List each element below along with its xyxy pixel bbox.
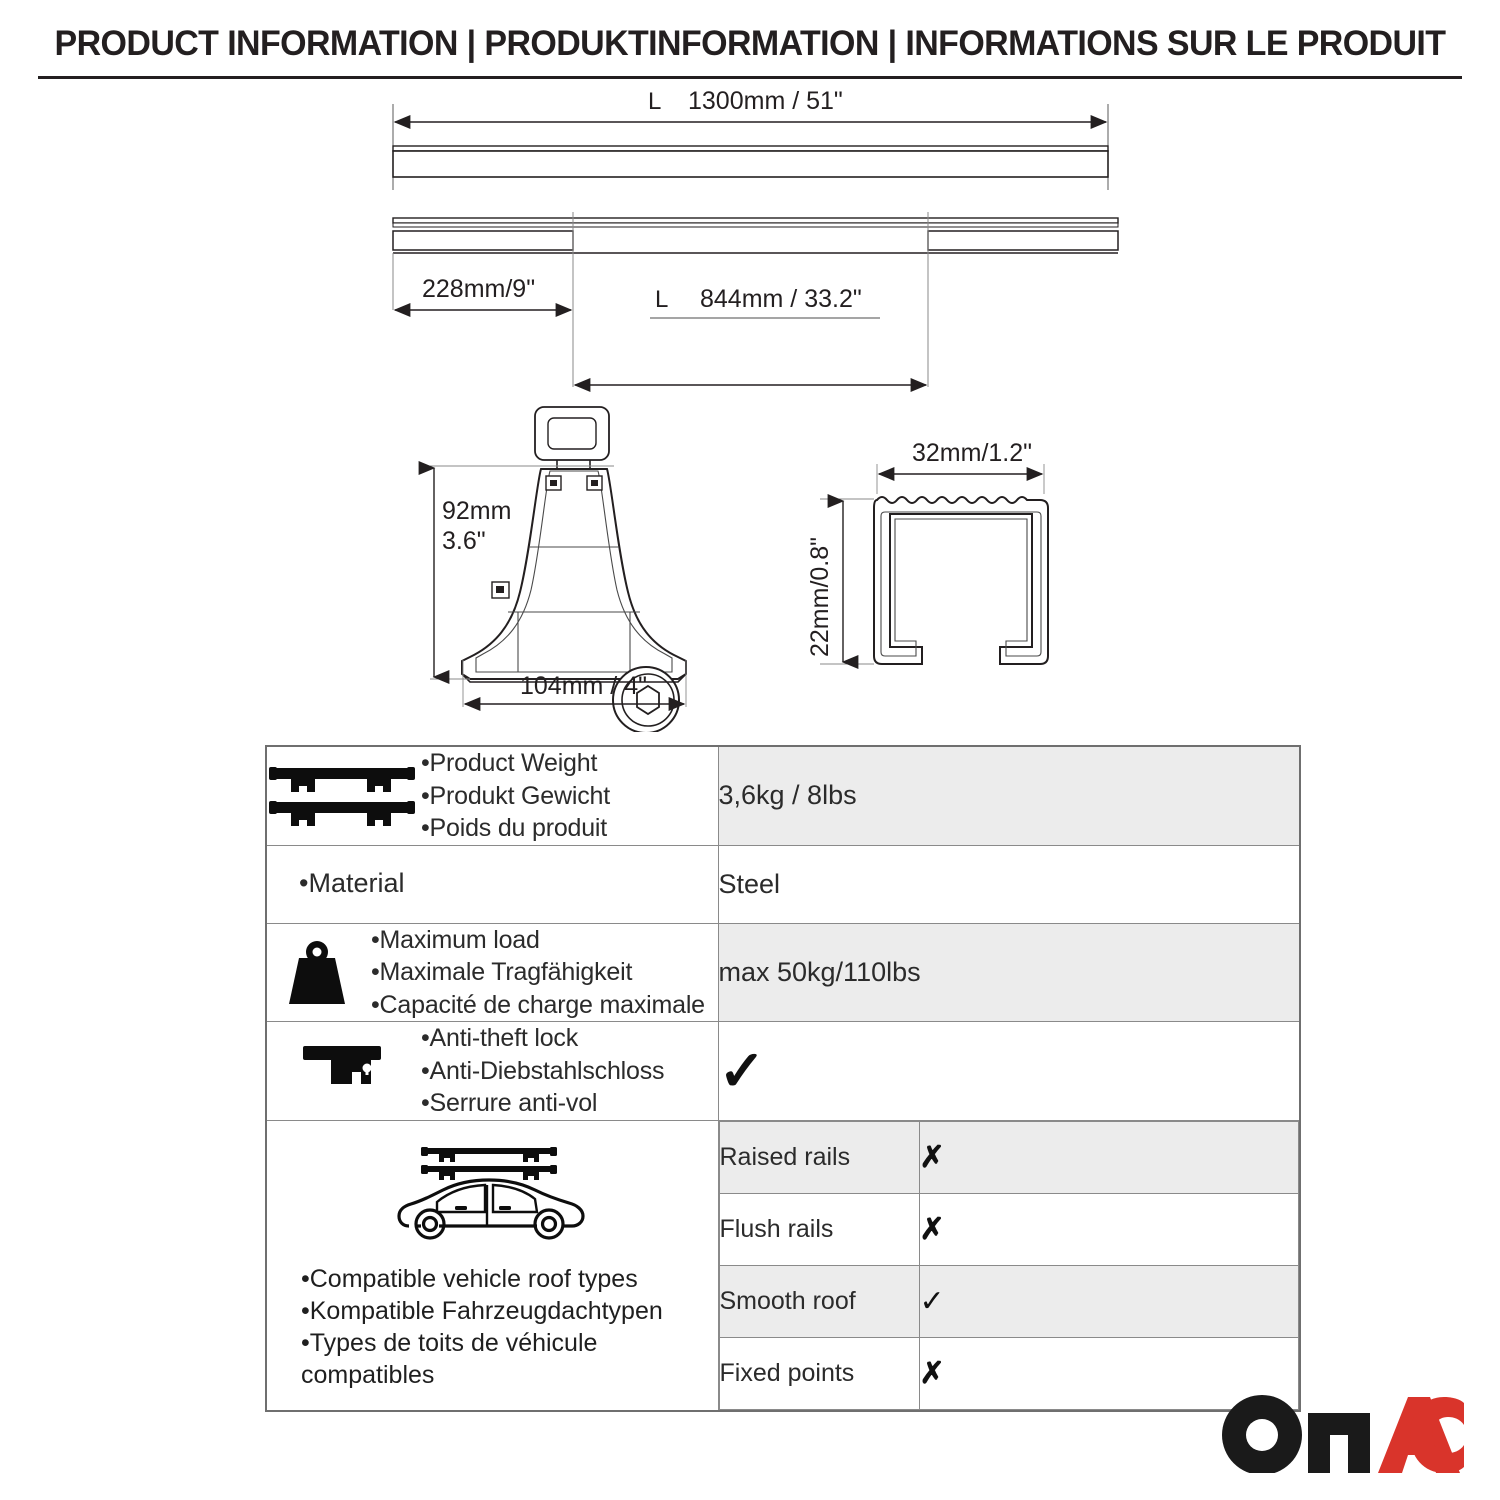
svg-text:1300mm / 51": 1300mm / 51": [688, 87, 843, 115]
car-with-roof-bars-icon: [377, 1140, 607, 1253]
product-spec-table: •Product Weight •Produkt Gewicht •Poids …: [265, 745, 1301, 1412]
svg-text:32mm/1.2": 32mm/1.2": [912, 439, 1032, 467]
label-cell-product-weight: •Product Weight •Produkt Gewicht •Poids …: [266, 746, 718, 845]
svg-text:844mm / 33.2": 844mm / 33.2": [700, 285, 862, 313]
label-text-compatibility: •Compatible vehicle roof types •Kompatib…: [267, 1263, 663, 1391]
table-row-compatibility: •Compatible vehicle roof types •Kompatib…: [266, 1120, 1300, 1411]
label-cell-anti-theft-lock: •Anti-theft lock •Anti-Diebstahlschloss …: [266, 1022, 718, 1121]
cross-icon: ✗: [920, 1141, 945, 1174]
svg-text:104mm / 4": 104mm / 4": [520, 672, 647, 700]
svg-text:92mm: 92mm: [442, 497, 511, 525]
label-cell-compatibility: •Compatible vehicle roof types •Kompatib…: [266, 1120, 718, 1411]
label-cell-material: •Material: [266, 845, 718, 923]
value-material: Steel: [718, 845, 1300, 923]
value-maximum-load: max 50kg/110lbs: [718, 923, 1300, 1022]
technical-drawing: L 1300mm / 51" 228mm/9" L 844mm / 33.2": [0, 82, 1500, 732]
table-row-maximum-load: •Maximum load •Maximale Tragfähigkeit •C…: [266, 923, 1300, 1022]
roof-types-table: Raised rails ✗ Flush rails ✗ Smooth roof: [719, 1121, 1300, 1410]
roof-type-name: Raised rails: [719, 1121, 919, 1193]
weight-icon: [267, 932, 367, 1012]
svg-text:L: L: [648, 88, 661, 115]
roof-types-cell: Raised rails ✗ Flush rails ✗ Smooth roof: [718, 1120, 1300, 1411]
roof-type-row-fixed-points: Fixed points ✗: [719, 1337, 1299, 1409]
label-text-product-weight: •Product Weight •Produkt Gewicht •Poids …: [421, 747, 610, 845]
roof-type-name: Smooth roof: [719, 1265, 919, 1337]
cross-icon: ✗: [920, 1213, 945, 1246]
value-product-weight: 3,6kg / 8lbs: [718, 746, 1300, 845]
roof-type-mark: ✓: [919, 1265, 1299, 1337]
check-icon: ✓: [920, 1285, 945, 1318]
page-title: PRODUCT INFORMATION | PRODUKTINFORMATION…: [23, 24, 1478, 64]
label-text-material: •Material: [267, 866, 718, 901]
label-text-maximum-load: •Maximum load •Maximale Tragfähigkeit •C…: [371, 924, 705, 1022]
roof-bars-icon: [267, 756, 417, 836]
svg-text:22mm/0.8": 22mm/0.8": [806, 537, 834, 657]
roof-type-row-smooth-roof: Smooth roof ✓: [719, 1265, 1299, 1337]
lock-icon: [267, 1036, 417, 1106]
svg-text:228mm/9": 228mm/9": [422, 275, 535, 303]
table-row-material: •Material Steel: [266, 845, 1300, 923]
svg-text:L: L: [655, 286, 668, 313]
roof-type-mark: ✗: [919, 1193, 1299, 1265]
table-row-anti-theft-lock: •Anti-theft lock •Anti-Diebstahlschloss …: [266, 1022, 1300, 1121]
roof-type-name: Flush rails: [719, 1193, 919, 1265]
omac-logo: [1222, 1395, 1472, 1478]
table-row-product-weight: •Product Weight •Produkt Gewicht •Poids …: [266, 746, 1300, 845]
roof-type-mark: ✗: [919, 1121, 1299, 1193]
label-text-anti-theft-lock: •Anti-theft lock •Anti-Diebstahlschloss …: [421, 1022, 664, 1120]
header-divider: [38, 76, 1462, 79]
check-icon: ✓: [719, 1039, 766, 1102]
svg-text:3.6": 3.6": [442, 527, 486, 555]
cross-icon: ✗: [920, 1357, 945, 1390]
roof-type-row-flush-rails: Flush rails ✗: [719, 1193, 1299, 1265]
roof-type-name: Fixed points: [719, 1337, 919, 1409]
roof-type-row-raised-rails: Raised rails ✗: [719, 1121, 1299, 1193]
label-cell-maximum-load: •Maximum load •Maximale Tragfähigkeit •C…: [266, 923, 718, 1022]
value-anti-theft-lock: ✓: [718, 1022, 1300, 1121]
